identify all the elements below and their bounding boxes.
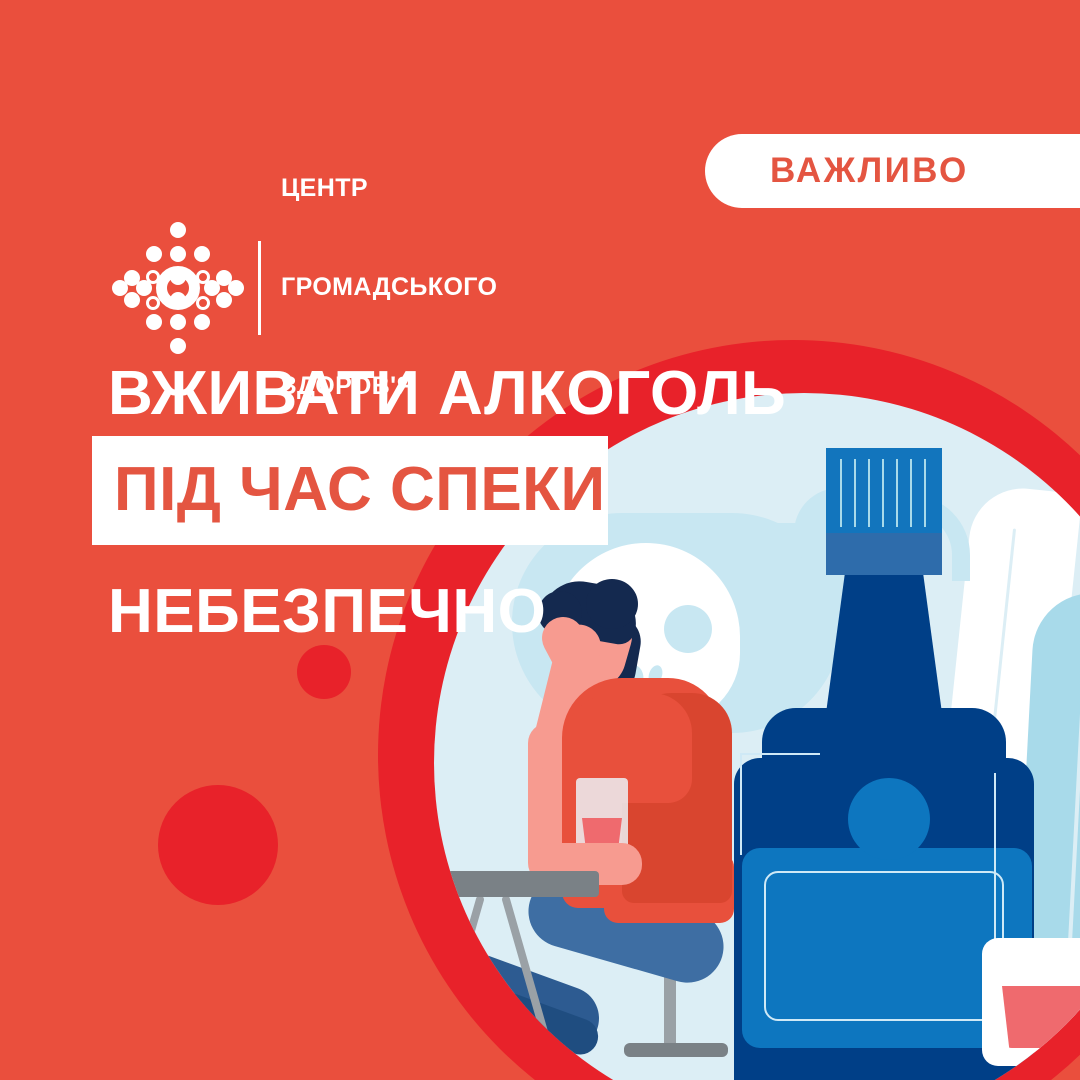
tumbler-liquid — [1002, 986, 1080, 1048]
bottle-emblem — [848, 778, 930, 860]
logo-divider — [258, 241, 261, 335]
bottle-highlight — [740, 755, 742, 855]
important-badge[interactable]: ВАЖЛИВО — [705, 134, 1080, 208]
bottle-cap-band — [826, 533, 942, 575]
logo-line-1: ЦЕНТР — [281, 172, 497, 205]
bottle-highlight — [994, 773, 996, 953]
bottle-label-border — [764, 871, 1004, 1021]
important-badge-label: ВАЖЛИВО — [770, 151, 969, 191]
headline-highlight-box: ПІД ЧАС СПЕКИ — [92, 436, 608, 545]
bottle-cap-ridge — [868, 459, 870, 527]
bottle-cap-ridge — [854, 459, 856, 527]
headline-line-2: ПІД ЧАС СПЕКИ — [114, 458, 586, 521]
bottle-highlight — [740, 753, 820, 755]
bottle-cap-ridge — [840, 459, 842, 527]
headline-line-3: НЕБЕЗПЕЧНО — [108, 580, 828, 643]
decorative-dot-large — [158, 785, 278, 905]
cphc-dot-mandala-logo-icon — [112, 222, 244, 354]
bottle-cap-ridge — [882, 459, 884, 527]
bottle-cap-ridge — [924, 459, 926, 527]
folding-table — [434, 871, 599, 897]
stool-base — [624, 1043, 728, 1057]
logo-line-2: ГРОМАДСЬКОГО — [281, 271, 497, 304]
bottle-cap-ridge — [910, 459, 912, 527]
headline-block: ВЖИВАТИ АЛКОГОЛЬ ПІД ЧАС СПЕКИ НЕБЕЗПЕЧН… — [108, 362, 828, 643]
headline-line-1: ВЖИВАТИ АЛКОГОЛЬ — [108, 362, 828, 425]
bottle-cap-ridge — [896, 459, 898, 527]
decorative-dot-small — [297, 645, 351, 699]
poster-canvas: ЦЕНТР ГРОМАДСЬКОГО ЗДОРОВ'Я ВАЖЛИВО ВЖИВ… — [0, 0, 1080, 1080]
